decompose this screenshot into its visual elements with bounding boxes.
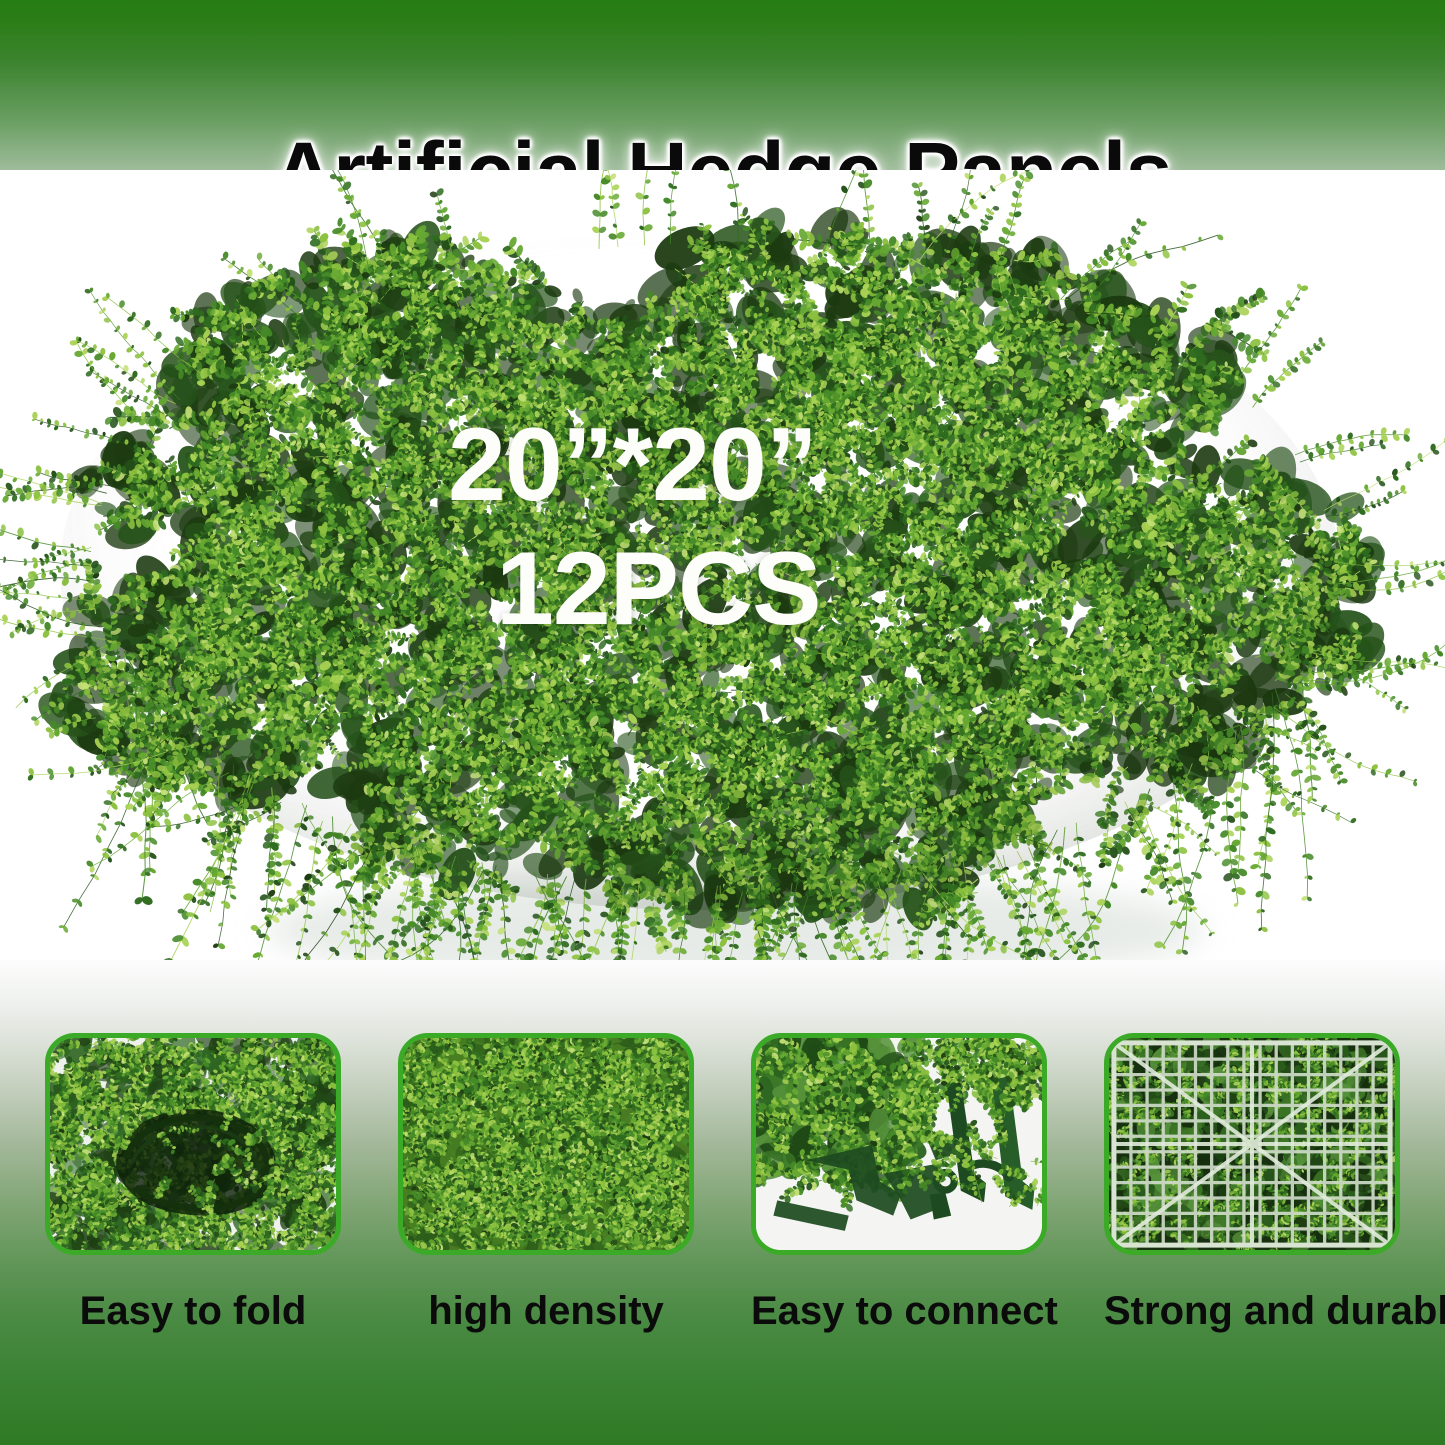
hero-product-image — [0, 170, 1445, 1040]
connector-tabs-photo — [756, 1038, 1042, 1250]
feature-item-2: high density — [398, 1033, 694, 1334]
product-marketing-image: Artificial Hedge Panels 20”*20” 12PCS — [0, 0, 1445, 1445]
thumb-high-density[interactable] — [398, 1033, 694, 1255]
feature-label-2: high density — [398, 1289, 694, 1334]
folded-hedge-photo — [50, 1038, 336, 1250]
feature-item-4: Strong and durable — [1104, 1033, 1400, 1334]
thumb-easy-to-connect[interactable] — [751, 1033, 1047, 1255]
feature-label-1: Easy to fold — [45, 1289, 341, 1334]
thumb-strong-and-durable[interactable] — [1104, 1033, 1400, 1255]
grid-backing-photo — [1109, 1038, 1395, 1250]
feature-thumbnail-row: Easy to fold high density Easy to connec… — [45, 1033, 1400, 1334]
dense-leaf-photo — [403, 1038, 689, 1250]
feature-label-3: Easy to connect — [751, 1289, 1047, 1334]
feature-label-4: Strong and durable — [1104, 1289, 1400, 1334]
feature-item-3: Easy to connect — [751, 1033, 1047, 1334]
hedge-panel-illustration — [0, 170, 1445, 1040]
thumb-easy-to-fold[interactable] — [45, 1033, 341, 1255]
feature-item-1: Easy to fold — [45, 1033, 341, 1334]
